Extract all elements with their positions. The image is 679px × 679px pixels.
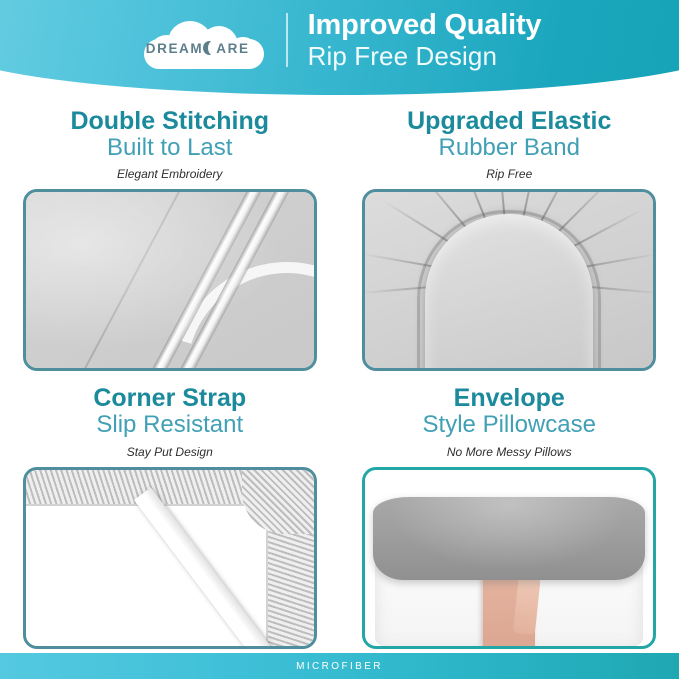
feature-card-corner-strap: Corner Strap Slip Resistant Stay Put Des… xyxy=(0,375,340,652)
feature-note: No More Messy Pillows xyxy=(447,445,572,459)
feature-title: Envelope xyxy=(454,385,565,411)
feature-title: Upgraded Elastic xyxy=(407,108,611,134)
header-banner: DREAMARE Improved Quality Rip Free Desig… xyxy=(0,0,679,95)
brand-name-second: ARE xyxy=(216,41,249,56)
feature-image-corner-strap xyxy=(23,467,317,649)
feature-card-upgraded-elastic: Upgraded Elastic Rubber Band Rip Free xyxy=(340,98,679,375)
header-subtitle: Rip Free Design xyxy=(308,42,542,72)
footer-label: MICROFIBER xyxy=(296,661,383,672)
crescent-moon-icon xyxy=(203,41,216,55)
feature-image-upgraded-elastic xyxy=(362,189,656,371)
feature-grid: Double Stitching Built to Last Elegant E… xyxy=(0,98,679,648)
feature-title: Double Stitching xyxy=(70,108,269,134)
header-divider xyxy=(286,13,288,67)
feature-subtitle: Rubber Band xyxy=(439,135,580,161)
brand-name-first: DREAM xyxy=(146,41,204,56)
feature-subtitle: Style Pillowcase xyxy=(423,412,596,438)
feature-image-envelope-pillowcase xyxy=(362,467,656,649)
header-text-block: Improved Quality Rip Free Design xyxy=(308,11,542,71)
brand-logo: DREAMARE xyxy=(138,11,270,73)
feature-subtitle: Slip Resistant xyxy=(96,412,243,438)
feature-note: Rip Free xyxy=(486,167,532,181)
feature-subtitle: Built to Last xyxy=(107,135,232,161)
feature-card-envelope-pillowcase: Envelope Style Pillowcase No More Messy … xyxy=(340,375,679,652)
header-title: Improved Quality xyxy=(308,11,542,41)
feature-card-double-stitching: Double Stitching Built to Last Elegant E… xyxy=(0,98,340,375)
footer-bar: MICROFIBER xyxy=(0,653,679,679)
feature-image-double-stitching xyxy=(23,189,317,371)
feature-note: Elegant Embroidery xyxy=(117,167,222,181)
feature-note: Stay Put Design xyxy=(127,445,213,459)
brand-logo-text: DREAMARE xyxy=(138,41,258,56)
feature-title: Corner Strap xyxy=(93,385,246,411)
